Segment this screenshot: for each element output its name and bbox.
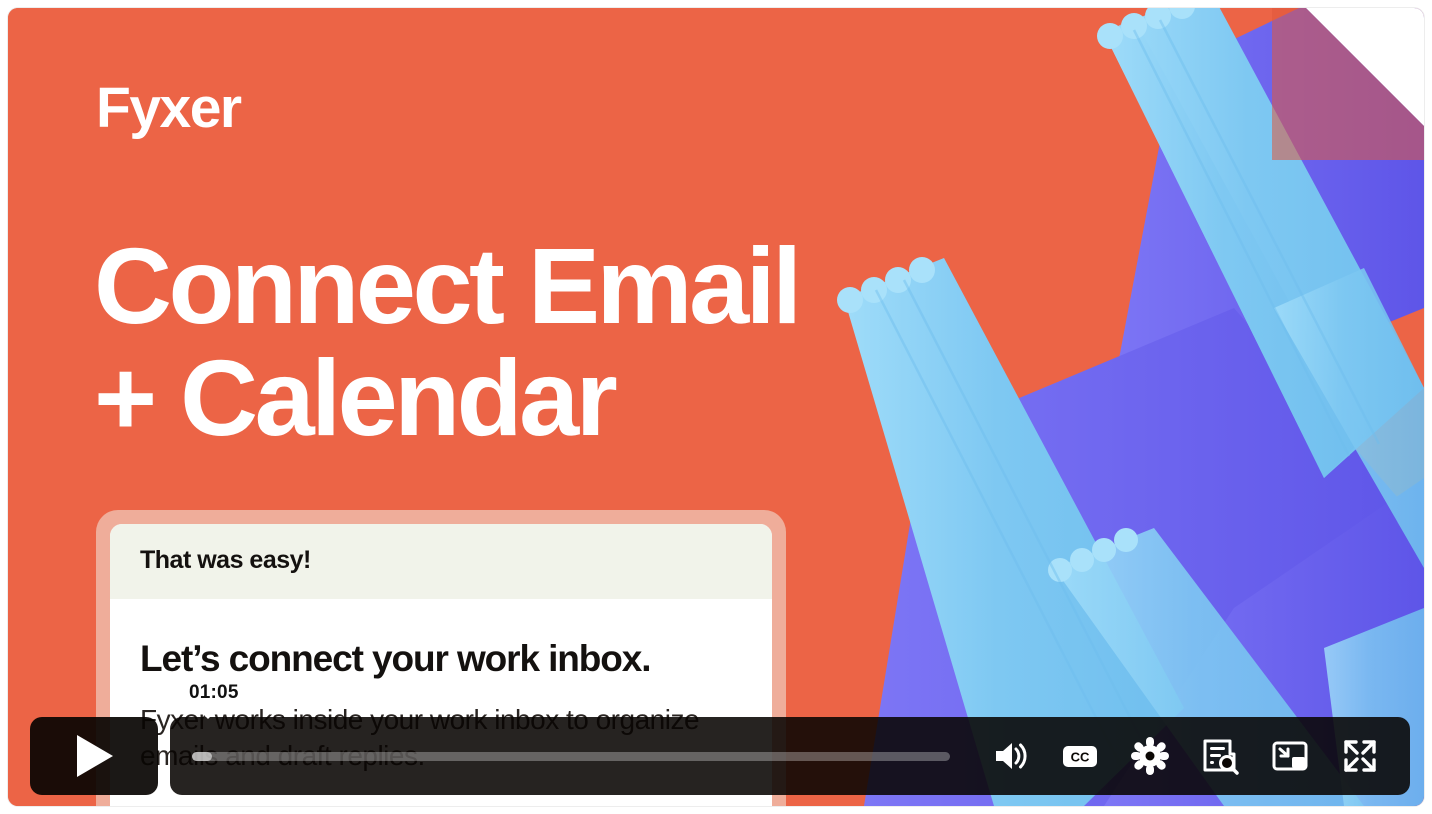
product-card-header: That was easy! [110, 524, 772, 599]
progress-bar[interactable]: 01:05 [170, 717, 972, 795]
settings-button[interactable] [1126, 732, 1174, 780]
slide-headline: Connect Email + Calendar [94, 230, 914, 455]
headline-line-2: + Calendar [94, 342, 914, 454]
captions-button[interactable]: CC [1056, 732, 1104, 780]
product-card-header-title: That was easy! [140, 546, 742, 575]
transcript-button[interactable] [1196, 732, 1244, 780]
gear-icon [1130, 736, 1170, 776]
progress-fill [192, 752, 212, 761]
volume-button[interactable] [986, 732, 1034, 780]
product-card-title: Let’s connect your work inbox. [140, 639, 742, 680]
fullscreen-button[interactable] [1336, 732, 1384, 780]
volume-icon [990, 736, 1030, 776]
headline-line-1: Connect Email [94, 225, 799, 346]
play-button[interactable] [30, 717, 158, 795]
play-icon [71, 731, 117, 781]
transcript-search-icon [1200, 736, 1240, 776]
video-slide: Fyxer Connect Email + Calendar That was … [8, 8, 1424, 806]
picture-in-picture-icon [1270, 736, 1310, 776]
svg-text:CC: CC [1071, 750, 1090, 765]
control-icon-group: CC [972, 717, 1410, 795]
pip-button[interactable] [1266, 732, 1314, 780]
video-player[interactable]: Fyxer Connect Email + Calendar That was … [8, 8, 1424, 806]
brand-logo: Fyxer [96, 80, 241, 137]
fullscreen-icon [1340, 736, 1380, 776]
corner-fold-decoration [1272, 8, 1424, 160]
closed-captions-icon: CC [1060, 736, 1100, 776]
video-controls-bar: 01:05 CC [8, 714, 1424, 806]
progress-track[interactable] [192, 752, 950, 761]
